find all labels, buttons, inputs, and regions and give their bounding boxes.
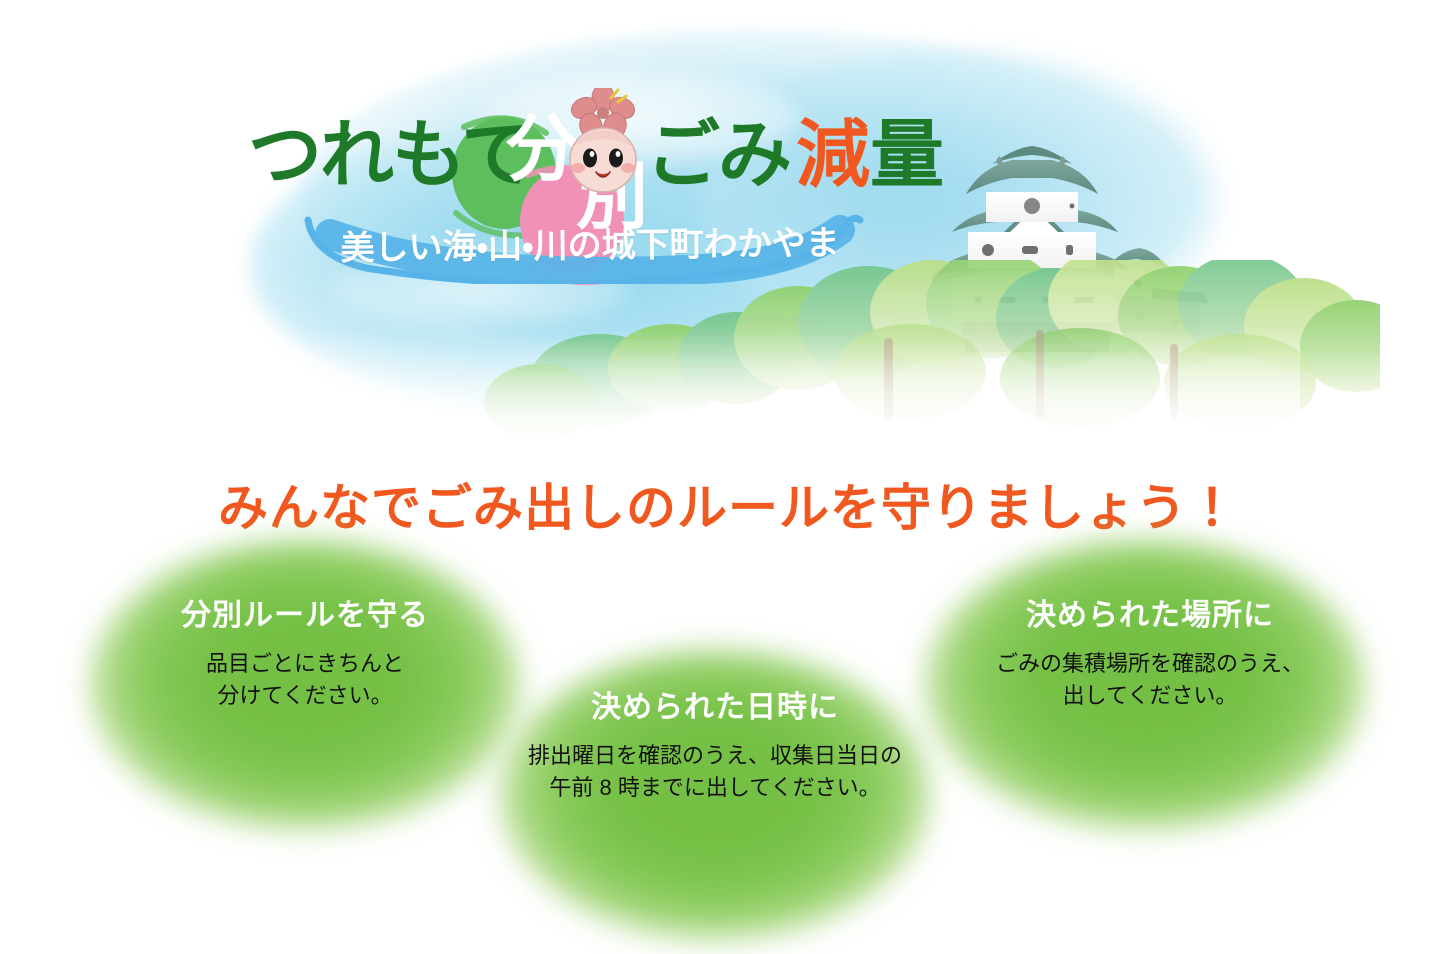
card-title: 決められた日時に [480,690,950,726]
card-body: 排出曜日を確認のうえ、収集日当日の 午前 8 時までに出してください。 [480,740,950,804]
card-body-line: 出してください。 [920,680,1380,712]
card-designated-place: 決められた場所に ごみの集積場所を確認のうえ、 出してください。 [920,598,1380,712]
card-body-line: 品目ごとにきちんと [75,648,535,680]
logo-subtitle-text: 美しい海・山・川の城下町わかやま [300,215,880,270]
card-separation-rules: 分別ルールを守る 品目ごとにきちんと 分けてください。 [75,598,535,712]
poster-page: つれもて 分 別 ごみ 減 量 [0,0,1456,954]
sakura-mascot [548,88,658,208]
hero-banner: つれもて 分 別 ごみ 減 量 [0,0,1456,460]
card-body-line: 排出曜日を確認のうえ、収集日当日の [480,740,950,772]
card-title: 決められた場所に [920,598,1380,634]
page-headline: みんなでごみ出しのルールを守りましょう！ [0,468,1456,540]
card-body: 品目ごとにきちんと 分けてください。 [75,648,535,712]
card-title: 分別ルールを守る [75,598,535,634]
card-body: ごみの集積場所を確認のうえ、 出してください。 [920,648,1380,712]
card-designated-datetime: 決められた日時に 排出曜日を確認のうえ、収集日当日の 午前 8 時までに出してく… [480,690,950,804]
card-body-line: ごみの集積場所を確認のうえ、 [920,648,1380,680]
card-body-line: 午前 8 時までに出してください。 [480,772,950,804]
card-body-line: 分けてください。 [75,680,535,712]
